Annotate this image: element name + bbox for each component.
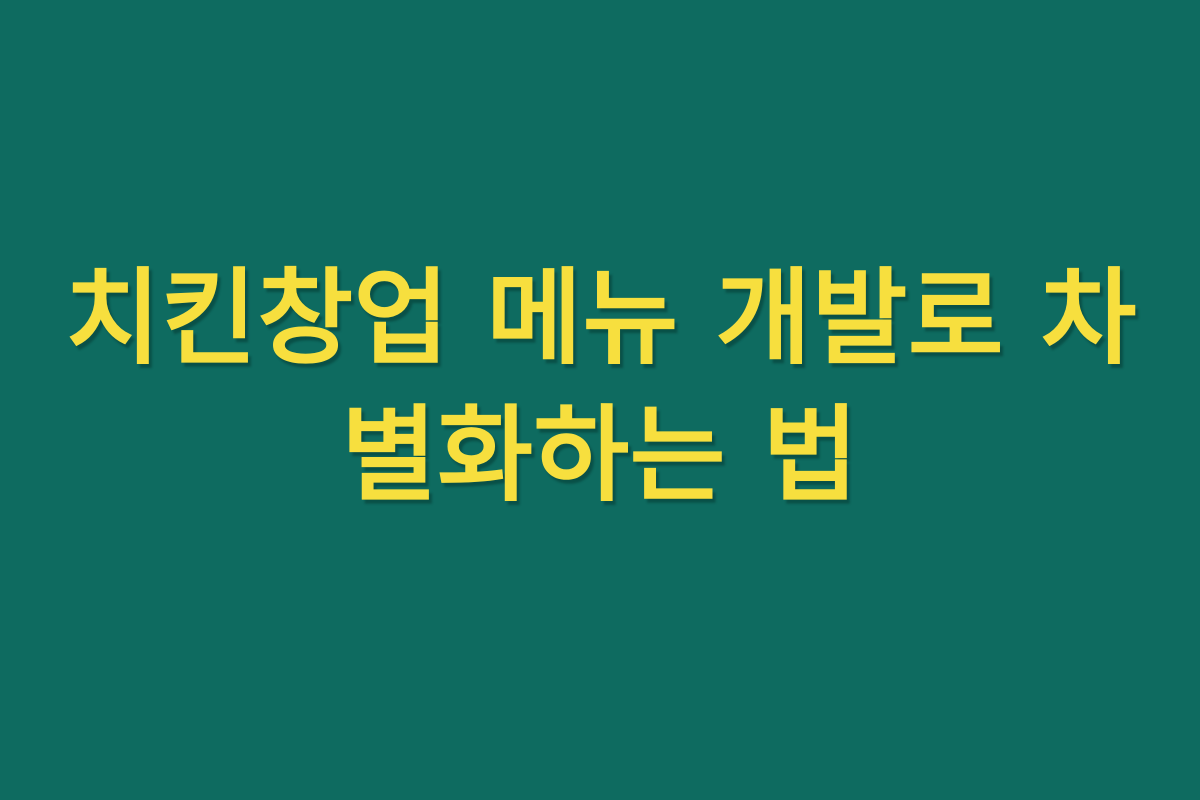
page-title: 치킨창업 메뉴 개발로 차 별화하는 법 (65, 250, 1135, 525)
title-line-2: 별화하는 법 (65, 387, 1135, 524)
title-banner: 치킨창업 메뉴 개발로 차 별화하는 법 (0, 0, 1200, 800)
title-line-1: 치킨창업 메뉴 개발로 차 (65, 250, 1135, 387)
